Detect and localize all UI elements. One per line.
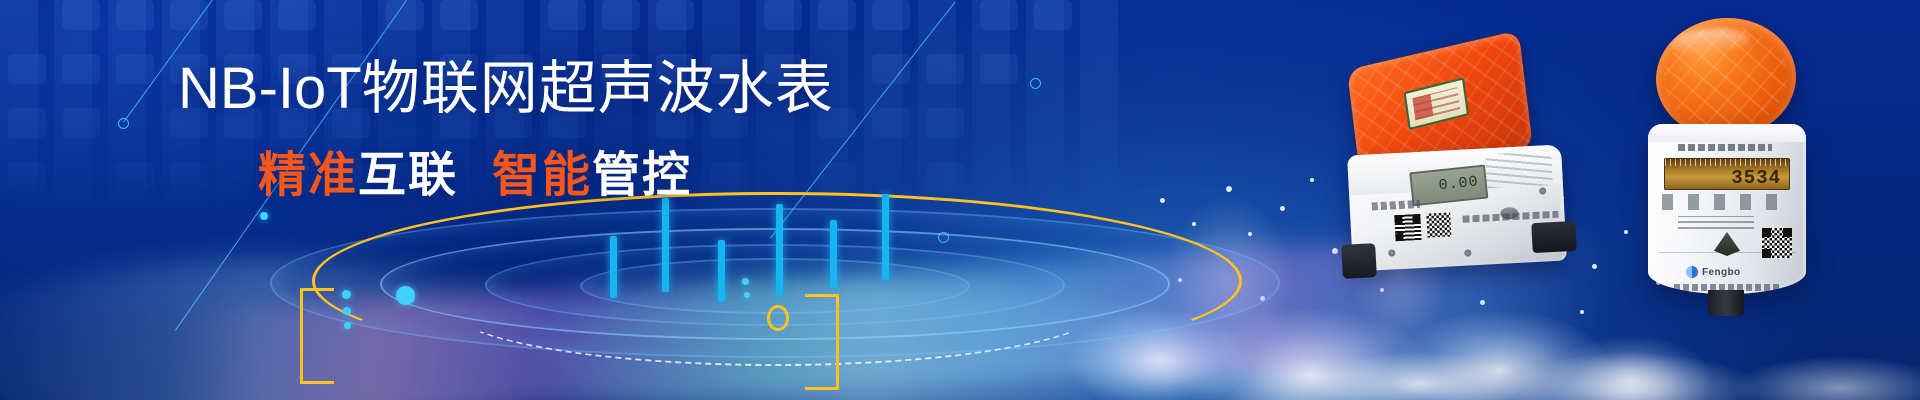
- cyan-dot-decor: [260, 212, 268, 220]
- qr-code-icon: [1394, 214, 1421, 241]
- product1-brand-text: [1372, 200, 1420, 211]
- gold-circle-decor: [767, 305, 789, 331]
- node-circle-icon-2: [1030, 78, 1041, 89]
- product1-screw: [1539, 187, 1546, 194]
- product-vertical-water-meter[interactable]: 3534 Fengbo: [1600, 18, 1850, 318]
- cyan-dot-decor: [742, 278, 749, 285]
- product2-brand-logo: Fengbo: [1686, 266, 1741, 278]
- node-circle-icon-1: [118, 118, 129, 129]
- qr-code-icon: [1426, 212, 1451, 237]
- product2-brand-name: Fengbo: [1702, 267, 1741, 278]
- cyan-dot-decor: [343, 307, 351, 315]
- cyan-dot-decor: [744, 292, 750, 298]
- subheadline-segment-2: 互联: [358, 149, 458, 202]
- product2-lcd-ticks: [1665, 159, 1789, 166]
- product1-screw: [1464, 249, 1471, 256]
- qr-code-icon: [1762, 228, 1792, 258]
- banner-subheadline: 精准互联智能管控: [258, 152, 692, 200]
- product-horizontal-water-meter[interactable]: 0.00: [1336, 46, 1594, 304]
- subheadline-segment-3: 智能: [492, 149, 592, 202]
- product2-lcd-reading: 3534: [1731, 167, 1781, 189]
- product2-top-rim: [1648, 124, 1806, 142]
- promotional-banner: NB-IoT物联网超声波水表 精准互联智能管控 0.00: [0, 0, 1920, 400]
- product2-body: 3534 Fengbo: [1648, 124, 1806, 294]
- product2-lcd-display: 3534: [1664, 158, 1790, 190]
- product1-vent-grille: [1485, 151, 1553, 188]
- subheadline-segment-4: 管控: [592, 149, 692, 202]
- product1-lcd-display: 0.00: [1409, 165, 1488, 207]
- node-circle-icon-3: [938, 232, 949, 243]
- cyan-dot-large-decor: [396, 286, 415, 305]
- cyan-dot-decor: [344, 322, 351, 329]
- headline-cjk-part: 物联网超声波水表: [362, 56, 834, 121]
- product1-screw: [1388, 249, 1395, 256]
- product2-spec-block: [1678, 216, 1754, 229]
- cyan-dot-decor: [342, 290, 351, 299]
- product2-model-text: [1678, 144, 1772, 151]
- bracket-right-decor: [805, 294, 839, 390]
- product2-spec-row: [1662, 194, 1792, 210]
- product1-company-text: [1462, 211, 1558, 223]
- product1-certification-label: [1404, 77, 1470, 130]
- bracket-left-decor: [300, 288, 334, 384]
- product2-pipe-connector: [1708, 290, 1744, 316]
- subheadline-segment-1: 精准: [258, 149, 358, 202]
- product1-lcd-reading: 0.00: [1438, 173, 1480, 194]
- product1-side-port: [1531, 221, 1577, 253]
- banner-headline: NB-IoT物联网超声波水表: [178, 60, 834, 118]
- headline-latin-part: NB-IoT: [178, 56, 362, 121]
- brand-mark-icon: [1686, 266, 1698, 278]
- product1-bottom-port: [1341, 243, 1377, 279]
